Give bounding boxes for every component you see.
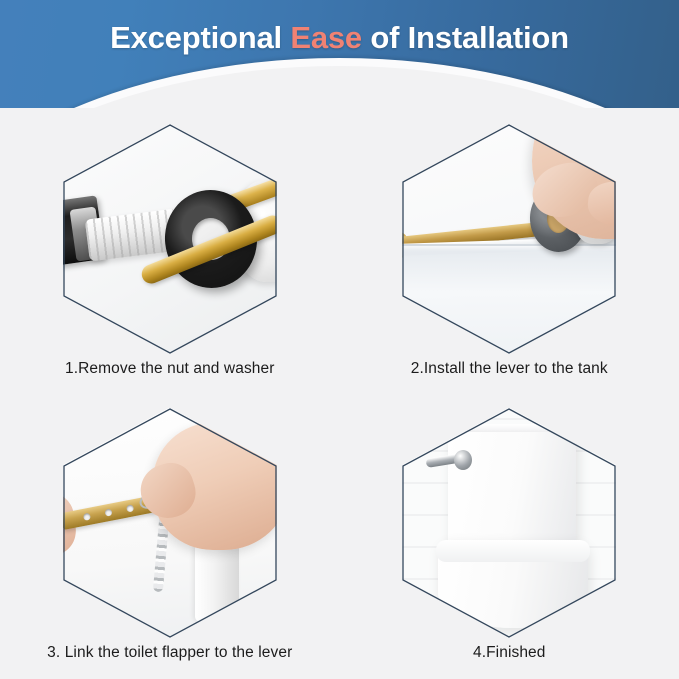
step-2-caption: 2.Install the lever to the tank xyxy=(411,360,608,378)
step-3-caption: 3. Link the toilet flapper to the lever xyxy=(47,644,292,662)
header-banner: Exceptional Ease of Installation xyxy=(0,0,679,108)
scene-link-flapper xyxy=(63,408,277,638)
step-4-hexagon xyxy=(402,408,616,638)
step-1: 1.Remove the nut and washer xyxy=(0,112,340,396)
lever-hole xyxy=(104,508,112,516)
tank-glass-seam xyxy=(402,124,408,250)
page-title-part1: Exceptional xyxy=(110,20,290,55)
step-1-hexagon xyxy=(63,124,277,354)
toilet-seat xyxy=(436,540,590,562)
step-4-photo xyxy=(402,408,616,638)
step-2-hexagon xyxy=(402,124,616,354)
step-4-caption: 4.Finished xyxy=(473,644,546,662)
toilet-tank xyxy=(448,432,576,544)
step-2: 2.Install the lever to the tank xyxy=(340,112,679,396)
scene-install-lever xyxy=(402,124,616,354)
step-1-photo xyxy=(63,124,277,354)
step-3-photo xyxy=(63,408,277,638)
step-4: 4.Finished xyxy=(340,396,679,679)
flush-lever-base xyxy=(454,450,472,470)
scene-nut-and-washer xyxy=(63,124,277,354)
page-title-part2: of Installation xyxy=(362,20,569,55)
scene-finished-toilet xyxy=(402,408,616,638)
lever-hole xyxy=(83,512,91,520)
tank-ledge xyxy=(63,636,223,638)
step-2-photo xyxy=(402,124,616,354)
step-3: 3. Link the toilet flapper to the lever xyxy=(0,396,340,679)
steps-grid: 1.Remove the nut and washer xyxy=(0,112,679,679)
page-title: Exceptional Ease of Installation xyxy=(0,20,679,56)
installation-guide-page: Exceptional Ease of Installation xyxy=(0,0,679,679)
page-title-accent: Ease xyxy=(290,20,362,55)
step-3-hexagon xyxy=(63,408,277,638)
clear-tank-body xyxy=(402,244,616,354)
lever-hole xyxy=(126,504,134,512)
step-1-caption: 1.Remove the nut and washer xyxy=(65,360,275,378)
